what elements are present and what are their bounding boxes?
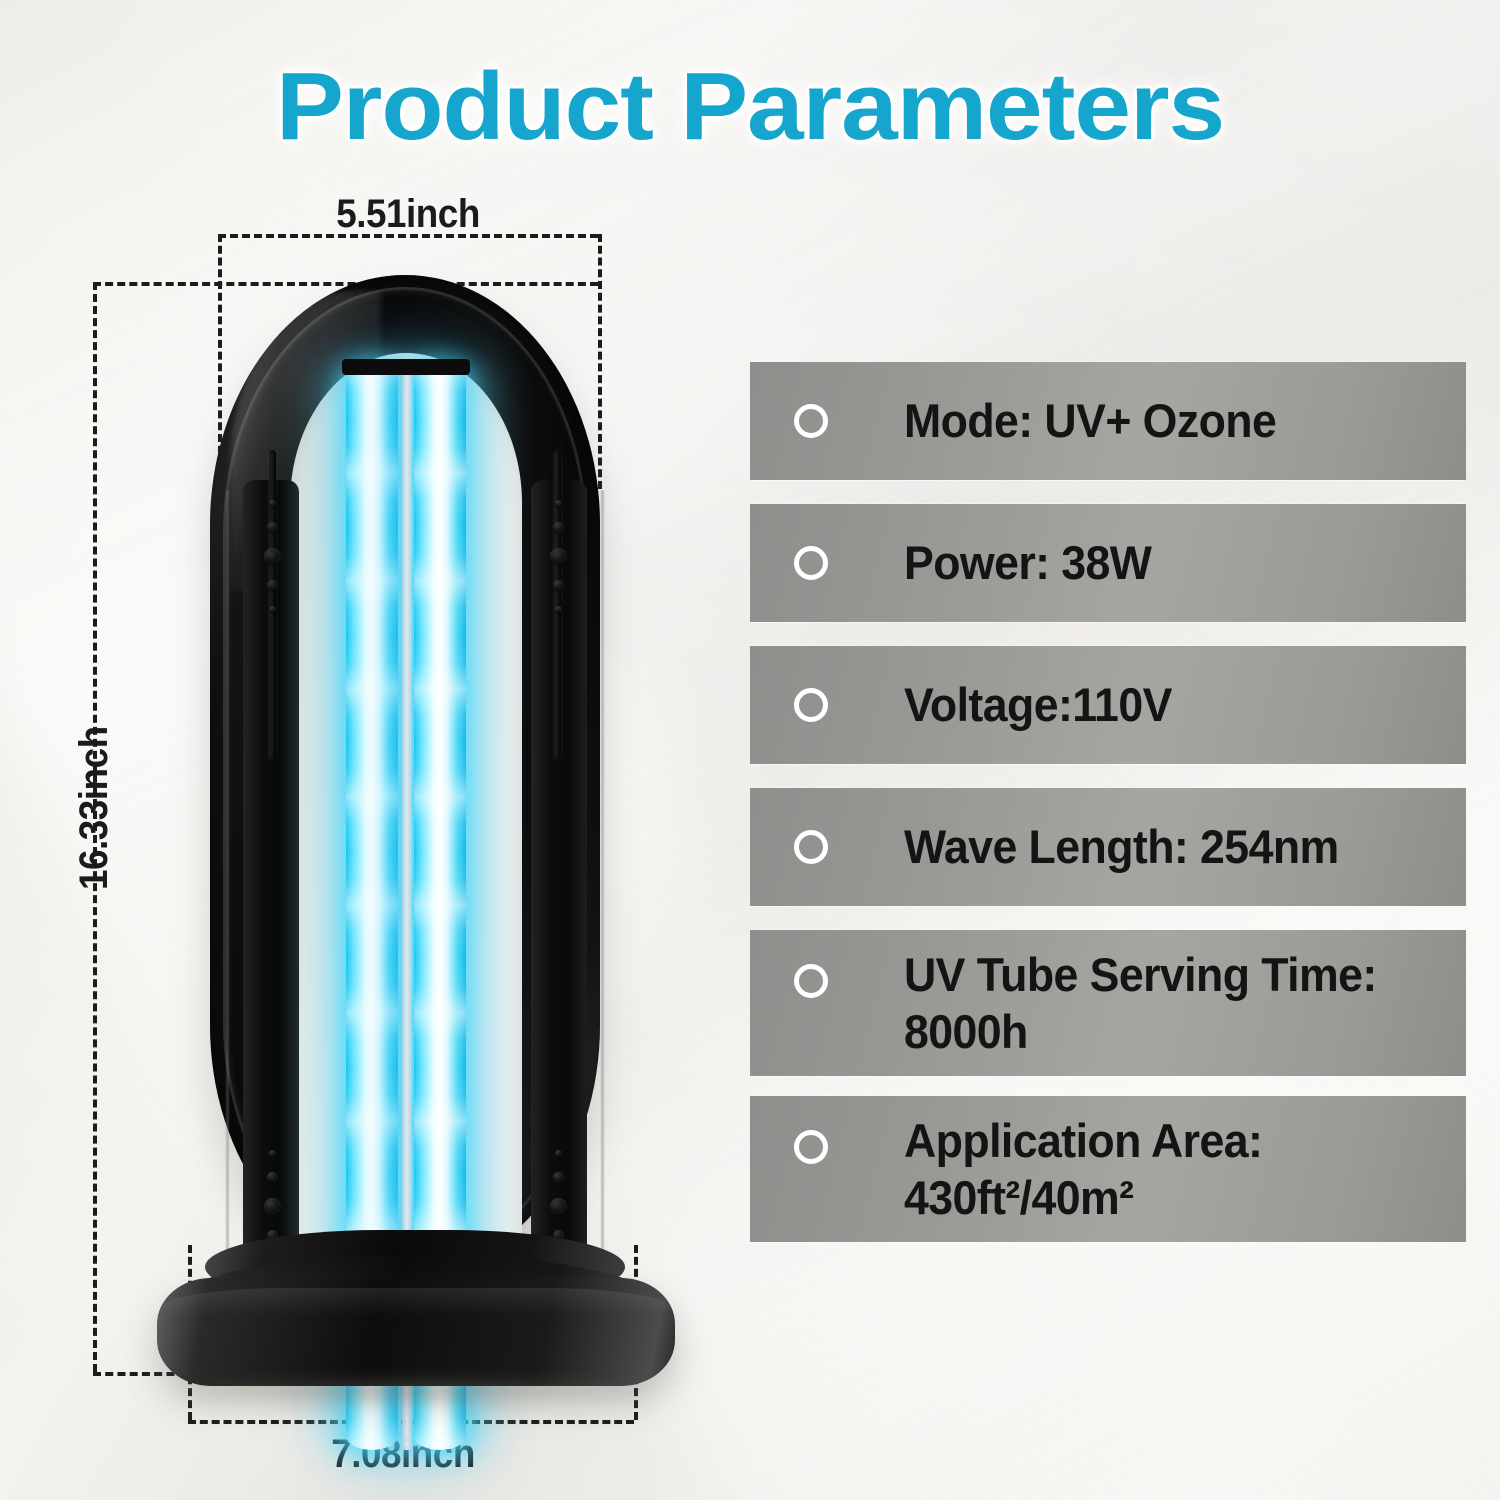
lamp-detail-dot — [264, 548, 281, 565]
spec-label: UV Tube Serving Time: 8000h — [904, 946, 1377, 1061]
uv-lamp-product-image — [165, 275, 665, 1385]
spec-label: Application Area: 430ft²/40m² — [904, 1112, 1262, 1227]
specifications-list: Mode: UV+ Ozone Power: 38W Voltage:110V … — [750, 362, 1466, 1242]
spec-row-power: Power: 38W — [750, 504, 1466, 622]
circle-bullet-icon — [794, 688, 828, 722]
circle-bullet-icon — [794, 964, 828, 998]
spec-row-mode: Mode: UV+ Ozone — [750, 362, 1466, 480]
lamp-outer-groove-left — [225, 490, 230, 1250]
spec-label: Mode: UV+ Ozone — [904, 392, 1276, 449]
circle-bullet-icon — [794, 546, 828, 580]
dimension-label-width-top: 5.51inch — [336, 192, 480, 237]
lamp-detail-dot — [550, 1198, 567, 1215]
circle-bullet-icon — [794, 1130, 828, 1164]
lamp-base-highlight — [161, 1288, 671, 1328]
page-title: Product Parameters — [0, 52, 1500, 162]
infographic-stage: Product Parameters 5.51inch 16.33inch 7.… — [0, 0, 1500, 1500]
spec-label: Wave Length: 254nm — [904, 818, 1339, 875]
lamp-base — [143, 1230, 688, 1400]
lamp-detail-dot — [264, 1198, 281, 1215]
spec-label: Voltage:110V — [904, 676, 1172, 733]
lamp-detail-dot — [267, 522, 278, 533]
lamp-detail-dot — [553, 522, 564, 533]
lamp-detail-dot — [267, 580, 278, 591]
lamp-dot-cluster-right-top — [545, 500, 571, 613]
lamp-detail-dot — [555, 500, 562, 507]
lamp-detail-dot — [550, 548, 567, 565]
circle-bullet-icon — [794, 404, 828, 438]
lamp-detail-dot — [269, 606, 276, 613]
spec-row-voltage: Voltage:110V — [750, 646, 1466, 764]
lamp-detail-dot — [553, 580, 564, 591]
spec-row-application-area: Application Area: 430ft²/40m² — [750, 1096, 1466, 1242]
dimension-label-height-left: 16.33inch — [72, 726, 117, 890]
spec-row-uv-tube-serving-time: UV Tube Serving Time: 8000h — [750, 930, 1466, 1076]
lamp-outer-groove-right — [600, 490, 605, 1250]
lamp-detail-dot — [267, 1172, 278, 1183]
lamp-detail-dot — [553, 1172, 564, 1183]
lamp-detail-dot — [269, 1150, 276, 1157]
lamp-detail-dot — [269, 500, 276, 507]
lamp-detail-dot — [555, 1150, 562, 1157]
circle-bullet-icon — [794, 830, 828, 864]
spec-label: Power: 38W — [904, 534, 1151, 591]
uv-tube-cap-top — [342, 359, 470, 375]
lamp-dot-cluster-left-top — [259, 500, 285, 613]
lamp-base-drop-shadow — [179, 1376, 651, 1406]
lamp-detail-dot — [555, 606, 562, 613]
spec-row-wave-length: Wave Length: 254nm — [750, 788, 1466, 906]
